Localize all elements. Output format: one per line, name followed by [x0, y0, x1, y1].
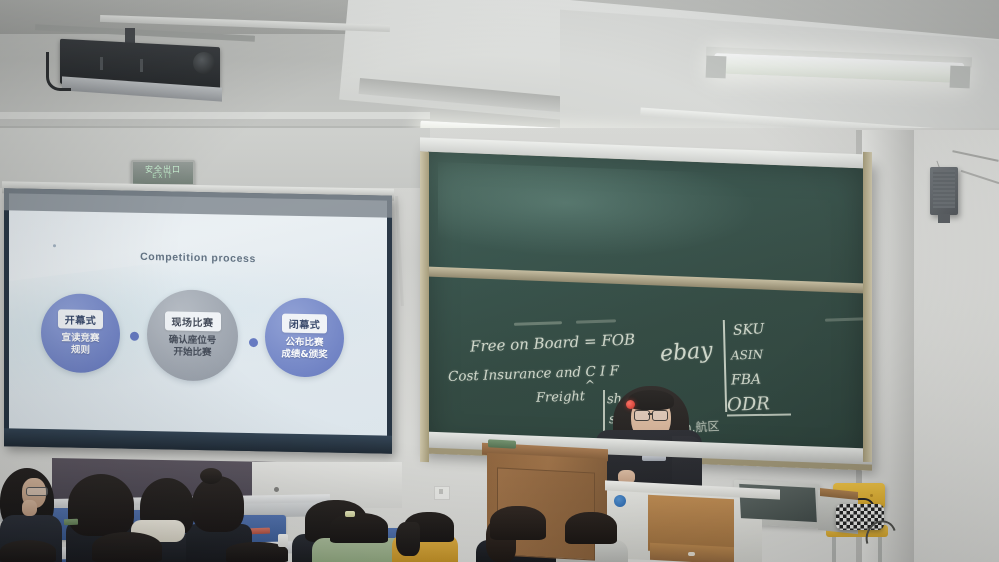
exit-sign-label-en: EXIT — [152, 174, 173, 181]
light-end-cap — [950, 66, 971, 89]
exit-sign-label-cn: 安全出口 — [145, 165, 181, 174]
chalk-term-fba: FBA — [731, 371, 762, 388]
projection-screen: Competition process 开幕式 宣读竞赛 规则 现场比赛 确认座… — [4, 188, 392, 453]
process-step-3: 闭幕式 公布比赛 成绩&颁奖 — [265, 297, 344, 378]
chalk-term-asin: ASIN — [731, 347, 764, 362]
blackboard-frame-right — [863, 152, 872, 462]
speaker-bracket — [938, 214, 950, 223]
student-head — [330, 513, 388, 543]
student-hair-bun — [200, 468, 222, 484]
projection-screen-surface: Competition process 开幕式 宣读竞赛 规则 现场比赛 确认座… — [9, 193, 387, 448]
student-head — [565, 512, 617, 544]
student-head — [0, 540, 56, 562]
projector-cable — [46, 52, 71, 91]
student-head — [68, 474, 134, 536]
projector-vent — [140, 59, 143, 72]
student-hand — [22, 500, 37, 516]
projector-lens — [193, 52, 215, 74]
process-connector-dot — [130, 332, 139, 341]
chalk-term-odr: ODR — [727, 393, 770, 415]
wall-mark — [274, 487, 279, 492]
chalk-caret: ^ — [585, 378, 596, 392]
book-on-podium — [488, 439, 516, 448]
process-step-2: 现场比赛 确认座位号 开始比赛 — [147, 289, 238, 382]
blackboard-sheen — [438, 162, 758, 264]
chair-hole — [870, 494, 873, 497]
process-step-2-line2: 开始比赛 — [173, 347, 211, 360]
process-step-3-line1: 公布比赛 — [285, 337, 323, 350]
process-step-1-line1: 宣读竞赛 — [61, 332, 99, 345]
slide: Competition process 开幕式 宣读竞赛 规则 现场比赛 确认座… — [9, 193, 387, 448]
student-head — [192, 476, 244, 532]
phone-on-desk — [64, 519, 78, 525]
cup-on-desk — [278, 534, 288, 547]
soffit-line — [0, 112, 430, 119]
student-hair — [396, 522, 420, 556]
process-step-2-label: 现场比赛 — [165, 311, 221, 331]
console-drawer-knob[interactable] — [688, 552, 695, 556]
slide-dot — [53, 244, 56, 247]
process-step-1: 开幕式 宣读竞赛 规则 — [41, 293, 120, 374]
student-head — [92, 532, 162, 562]
projector-vent — [100, 57, 103, 70]
process-step-1-line2: 规则 — [71, 345, 90, 357]
process-step-1-label: 开幕式 — [58, 309, 104, 329]
console-brand-logo — [614, 495, 626, 507]
hair-clip-icon — [345, 511, 355, 517]
process-step-3-label: 闭幕式 — [282, 314, 328, 334]
exit-sign: 安全出口 EXIT — [131, 160, 195, 186]
process-connector-dot — [249, 338, 258, 347]
chair-leg — [832, 536, 836, 562]
chalk-text-ebay: ebay — [659, 338, 713, 367]
student-head — [490, 506, 546, 540]
speaker-grill — [933, 170, 955, 208]
chalk-term-sku: SKU — [733, 321, 765, 339]
blackboard-frame-left — [420, 152, 429, 462]
glasses-icon — [26, 487, 48, 496]
classroom-photo: 安全出口 EXIT Free on Board = FOB Cost Insur… — [0, 0, 999, 562]
wall-socket-slot — [439, 489, 443, 494]
light-end-cap — [706, 56, 727, 79]
wall-upper-band — [0, 128, 430, 188]
chalk-text-freight: Freight — [536, 389, 586, 406]
process-step-3-line2: 成绩&颁奖 — [281, 349, 327, 362]
process-step-2-line1: 确认座位号 — [169, 334, 217, 347]
